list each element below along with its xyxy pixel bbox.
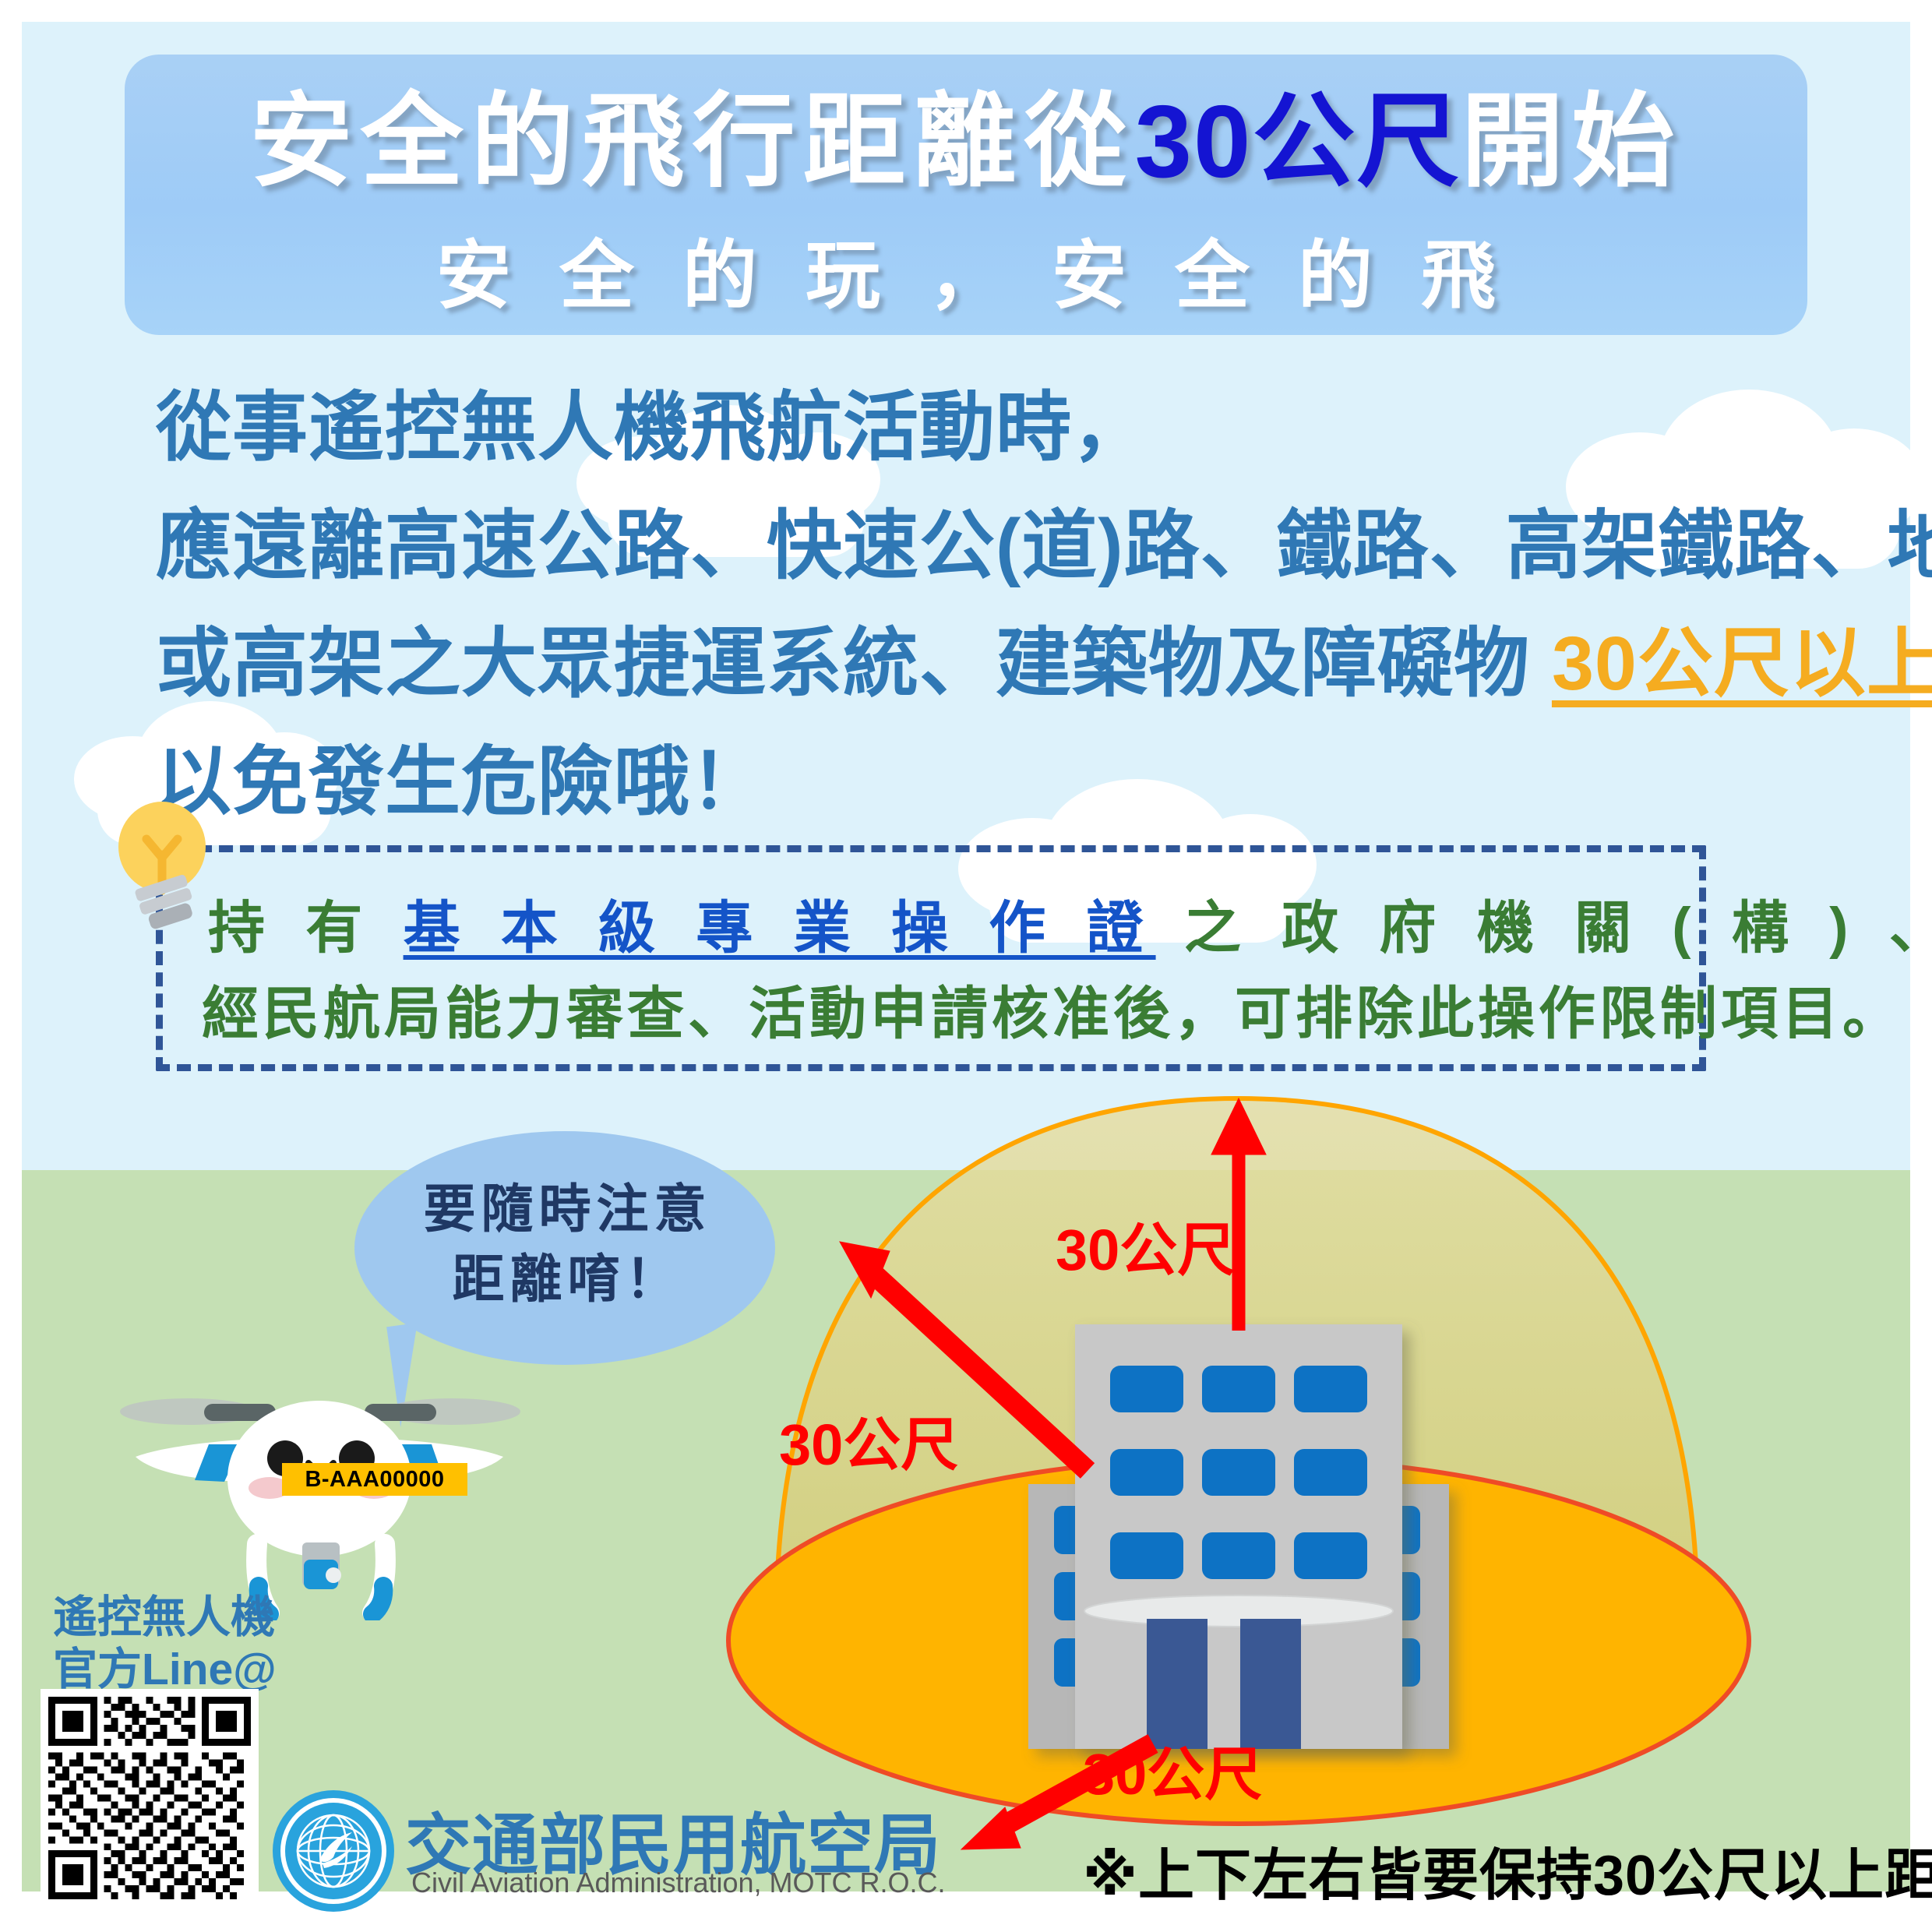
note-certificate-label: 基 本 級 專 業 操 作 證	[404, 897, 1156, 960]
qr-code[interactable]	[41, 1689, 259, 1907]
title-prefix: 安全的飛行距離從	[250, 84, 1135, 199]
body-line-4: 以免發生危險哦！	[156, 728, 1807, 836]
poster-canvas: 安全的飛行距離從30公尺開始 安全的玩，安全的飛 從事遙控無人機飛航活動時， 應…	[0, 0, 1932, 1932]
distance-label-top: 30公尺	[1056, 1204, 1235, 1287]
page-subtitle: 安全的玩，安全的飛	[125, 215, 1807, 323]
lightbulb-icon	[117, 799, 218, 939]
title-suffix: 開始	[1461, 84, 1682, 199]
note-line-1: 持 有 基 本 級 專 業 操 作 證 之 政 府 機 關 ( 構 ) 、 學 …	[208, 882, 1932, 964]
title-panel: 安全的飛行距離從30公尺開始 安全的玩，安全的飛	[125, 55, 1807, 335]
body-line-3-text: 或高架之大眾捷運系統、建築物及障礙物	[156, 621, 1552, 706]
body-line-2: 應遠離高速公路、快速公(道)路、鐵路、高架鐵路、地面	[156, 492, 1807, 600]
page-title: 安全的飛行距離從30公尺開始	[125, 76, 1807, 208]
body-distance-highlight: 30公尺以上	[1552, 621, 1932, 706]
note-line-1-prefix: 持 有	[208, 897, 404, 960]
body-paragraph: 從事遙控無人機飛航活動時， 應遠離高速公路、快速公(道)路、鐵路、高架鐵路、地面…	[156, 374, 1807, 847]
note-line-1-suffix: 之 政 府 機 關 ( 構 ) 、 學 校 或 法 人	[1156, 897, 1932, 960]
diagram-footnote: ※上下左右皆要保持30公尺以上距離	[1083, 1829, 1932, 1911]
note-line-2: 經民航局能力審查、活動申請核准後，可排除此操作限制項目。	[202, 968, 1903, 1050]
agency-name-en: Civil Aviation Administration, MOTC R.O.…	[411, 1867, 946, 1899]
caa-seal-icon	[271, 1789, 396, 1913]
body-line-3: 或高架之大眾捷運系統、建築物及障礙物 30公尺以上	[156, 610, 1807, 717]
exemption-note-box: 持 有 基 本 級 專 業 操 作 證 之 政 府 機 關 ( 構 ) 、 學 …	[156, 845, 1706, 1071]
building-canopy	[1084, 1595, 1393, 1627]
title-highlight: 30公尺	[1135, 84, 1461, 199]
drone-license-plate: B-AAA00000	[282, 1463, 467, 1496]
line-label-line-1: 遙控無人機	[53, 1592, 277, 1644]
line-account-label: 遙控無人機 官方Line@	[53, 1592, 277, 1697]
distance-label-left: 30公尺	[779, 1398, 958, 1482]
distance-label-bottom: 30公尺	[1083, 1728, 1262, 1811]
building-front-windows	[1110, 1366, 1367, 1579]
body-line-1: 從事遙控無人機飛航活動時，	[156, 374, 1807, 481]
